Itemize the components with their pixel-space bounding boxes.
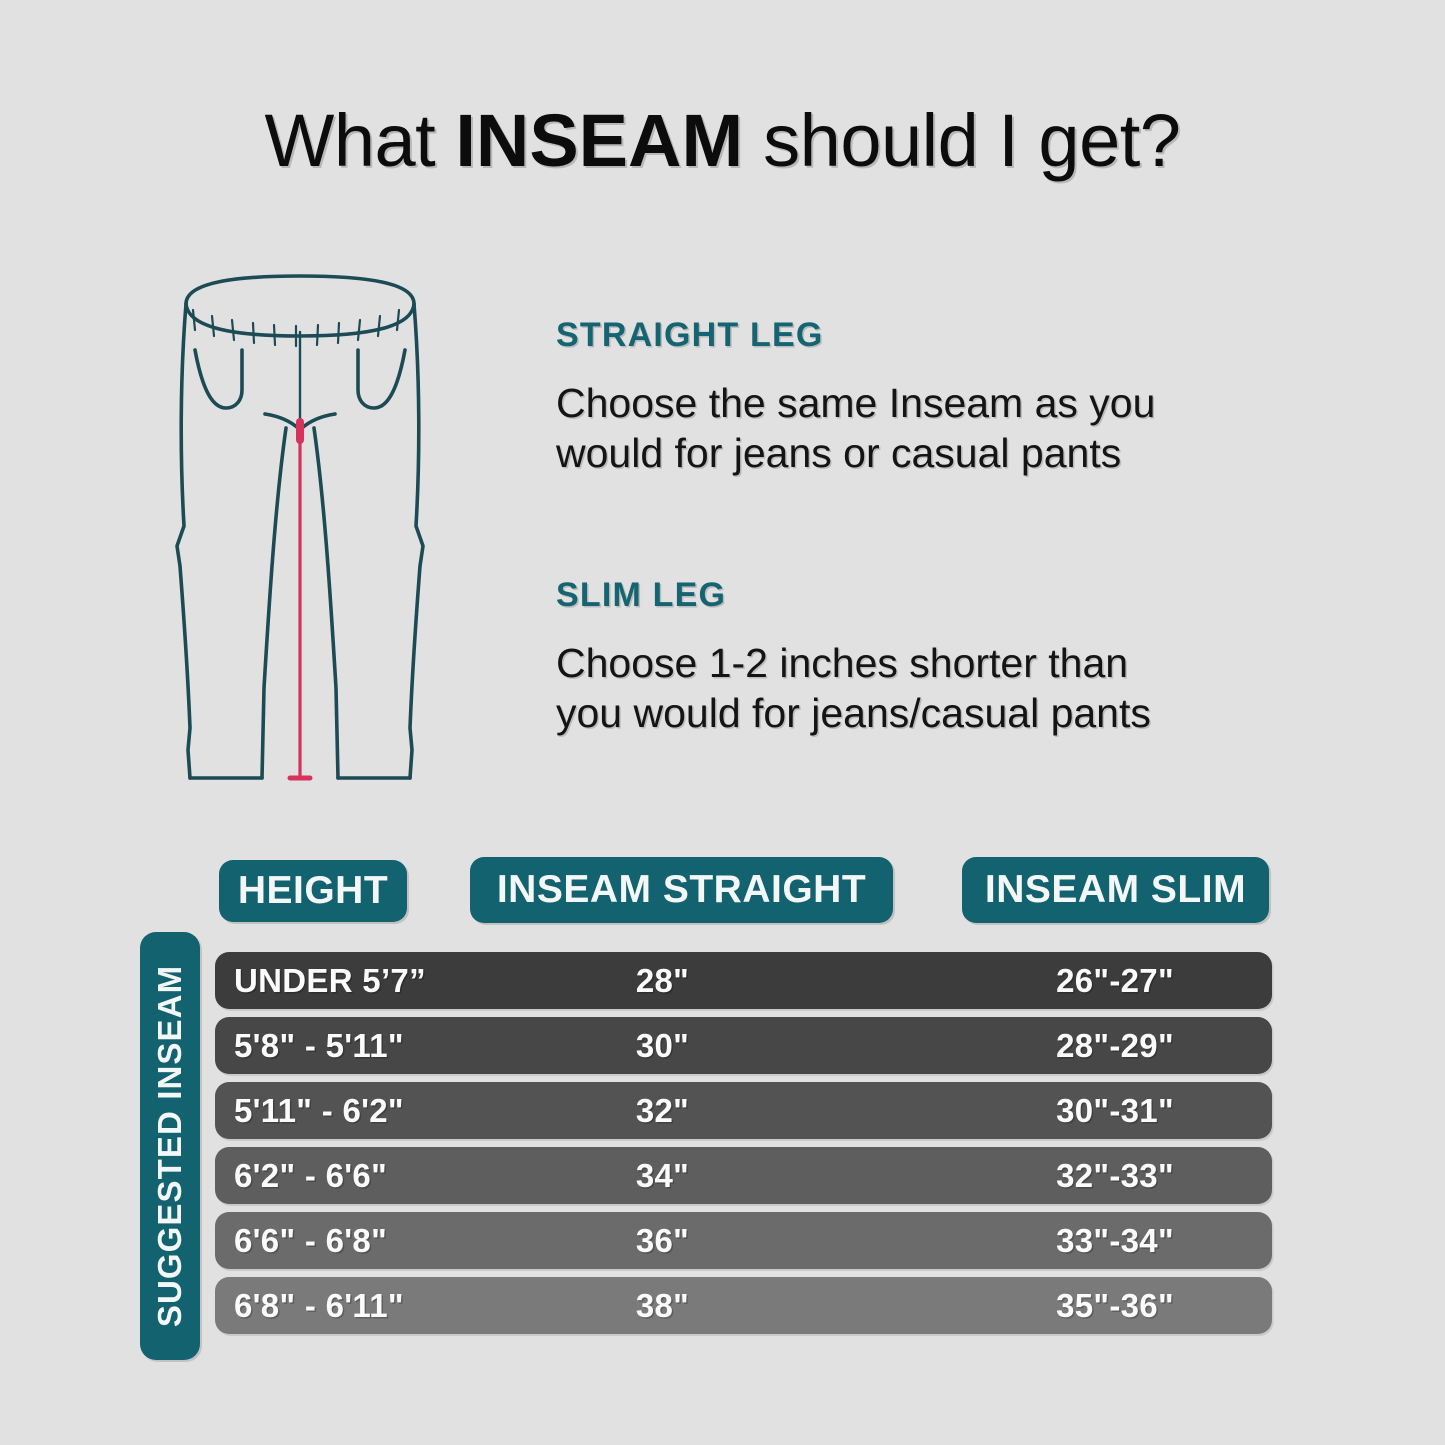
left-inseam-edge — [262, 428, 286, 778]
column-header-inseam-slim-label: INSEAM SLIM — [985, 868, 1246, 912]
table-row: 5'11" - 6'2"32"30"-31" — [215, 1082, 1272, 1139]
column-header-inseam-straight-label: INSEAM STRAIGHT — [497, 868, 866, 912]
right-outer-seam — [410, 304, 423, 778]
cell-inseam-slim: 26"-27" — [215, 962, 1445, 1000]
table-row: 6'6" - 6'8"36"33"-34" — [215, 1212, 1272, 1269]
crotch-wing-left — [265, 414, 298, 428]
column-header-inseam-straight: INSEAM STRAIGHT — [470, 857, 893, 923]
cell-inseam-slim: 30"-31" — [215, 1092, 1445, 1130]
slim-leg-description: Choose 1-2 inches shorter than you would… — [556, 638, 1296, 738]
column-header-height-label: HEIGHT — [238, 869, 388, 913]
right-inseam-edge — [314, 428, 338, 778]
waistband-ticks — [193, 310, 399, 346]
slim-leg-heading: SLIM LEG — [556, 578, 1296, 612]
crotch-wing-right — [302, 414, 335, 428]
column-header-inseam-slim: INSEAM SLIM — [962, 857, 1269, 923]
table-row: UNDER 5’7”28"26"-27" — [215, 952, 1272, 1009]
table-row: 6'2" - 6'6"34"32"-33" — [215, 1147, 1272, 1204]
left-pocket — [195, 350, 242, 408]
pants-illustration — [150, 258, 450, 828]
infographic-canvas: What INSEAM should I get? — [0, 0, 1445, 1445]
straight-leg-description: Choose the same Inseam as you would for … — [556, 378, 1296, 478]
suggested-inseam-side-label: SUGGESTED INSEAM — [140, 932, 200, 1360]
right-pocket — [358, 350, 405, 408]
cell-inseam-slim: 33"-34" — [215, 1222, 1445, 1260]
cell-inseam-slim: 28"-29" — [215, 1027, 1445, 1065]
guidance-straight-leg: STRAIGHT LEG Choose the same Inseam as y… — [556, 318, 1296, 478]
table-row: 6'8" - 6'11"38"35"-36" — [215, 1277, 1272, 1334]
column-header-height: HEIGHT — [219, 860, 407, 922]
cell-inseam-slim: 32"-33" — [215, 1157, 1445, 1195]
slim-leg-line-1: Choose 1-2 inches shorter than — [556, 638, 1296, 688]
waistband-top-edge — [186, 276, 414, 304]
straight-leg-line-2: would for jeans or casual pants — [556, 428, 1296, 478]
page-title: What INSEAM should I get? — [0, 104, 1445, 178]
page-title-part2: should I get? — [743, 99, 1180, 182]
left-outer-seam — [177, 304, 190, 778]
table-row: 5'8" - 5'11"30"28"-29" — [215, 1017, 1272, 1074]
straight-leg-heading: STRAIGHT LEG — [556, 318, 1296, 352]
page-title-emphasis: INSEAM — [455, 99, 743, 182]
straight-leg-line-1: Choose the same Inseam as you — [556, 378, 1296, 428]
slim-leg-line-2: you would for jeans/casual pants — [556, 688, 1296, 738]
suggested-inseam-side-label-text: SUGGESTED INSEAM — [151, 965, 189, 1327]
pants-diagram-svg — [150, 258, 450, 828]
cell-inseam-slim: 35"-36" — [215, 1287, 1445, 1325]
page-title-part1: What — [265, 99, 456, 182]
guidance-slim-leg: SLIM LEG Choose 1-2 inches shorter than … — [556, 578, 1296, 738]
